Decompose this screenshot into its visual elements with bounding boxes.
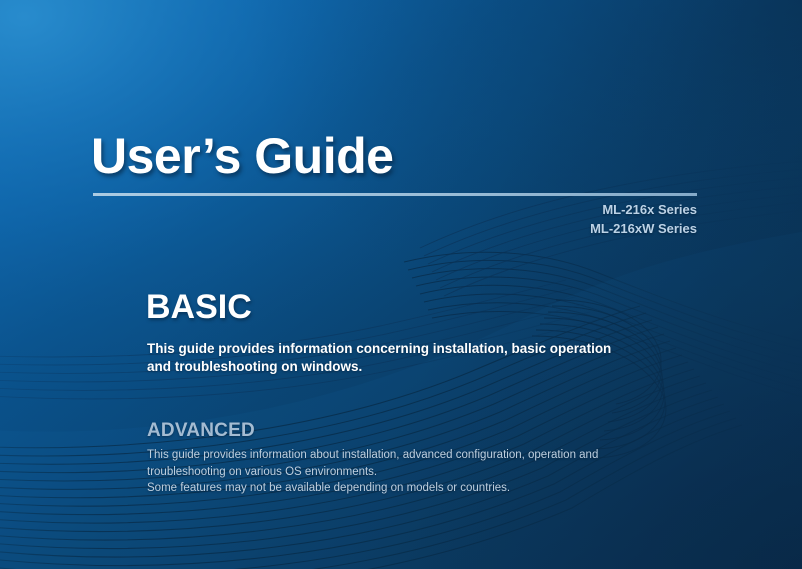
section-heading-advanced: ADVANCED (147, 421, 255, 440)
page-title: User’s Guide (91, 131, 393, 181)
section-body-basic: This guide provides information concerni… (147, 340, 617, 376)
model-series-primary: ML-216x Series (590, 200, 697, 219)
model-series-list: ML-216x Series ML-216xW Series (590, 200, 697, 238)
section-body-advanced-line-1: This guide provides information about in… (147, 447, 617, 480)
section-body-advanced-line-2: Some features may not be available depen… (147, 480, 617, 497)
section-heading-basic: BASIC (146, 290, 252, 324)
section-body-advanced: This guide provides information about in… (147, 447, 617, 497)
user-guide-cover-page: User’s Guide ML-216x Series ML-216xW Ser… (0, 0, 802, 569)
title-divider-rule (93, 193, 697, 196)
model-series-secondary: ML-216xW Series (590, 219, 697, 238)
